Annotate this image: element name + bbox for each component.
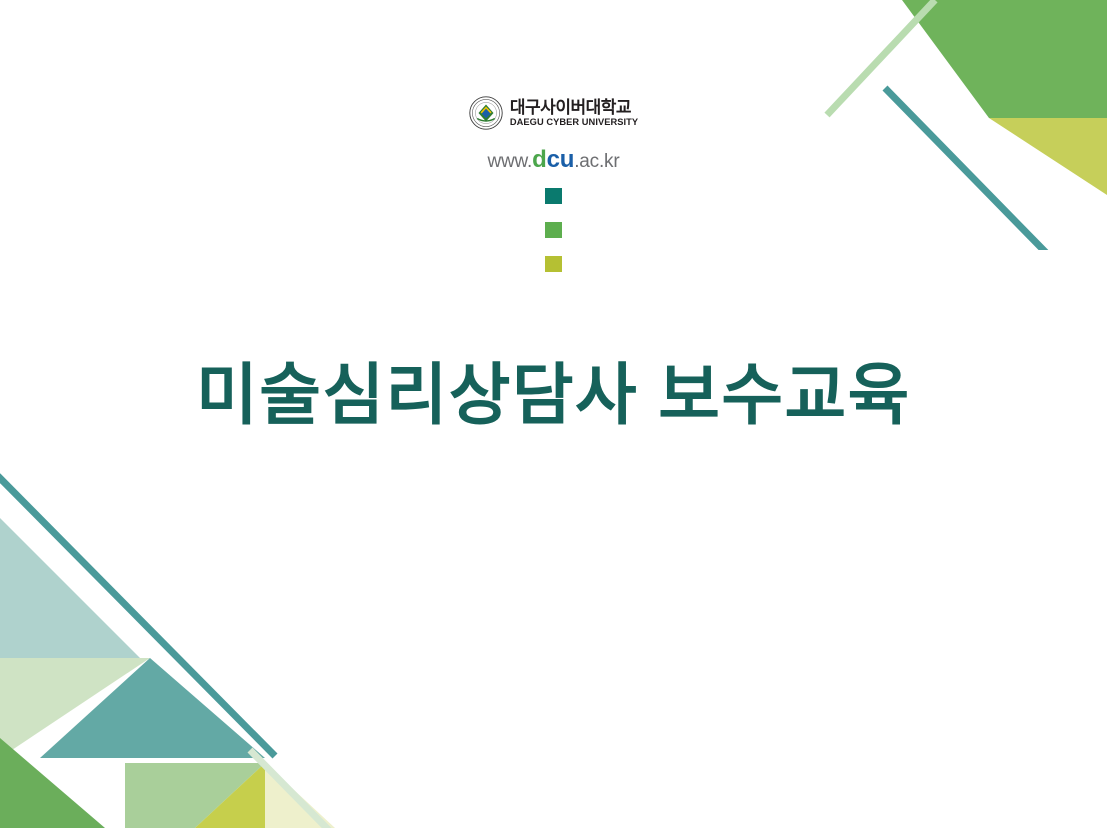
deco-lime-triangle-bl [195,763,265,828]
url-suffix: .ac.kr [574,151,619,172]
university-name-en: DAEGU CYBER UNIVERSITY [510,118,638,127]
deco-pale-green-triangle [0,658,150,758]
deco-light-green-line-bl [250,750,420,828]
university-logo-block: 대구사이버대학교 DAEGU CYBER UNIVERSITY www.dcu.… [0,96,1107,174]
page-title: 미술심리상담사 보수교육 [0,357,1107,434]
url-brand-cu: cu [547,146,575,173]
deco-teal-triangle [40,658,265,758]
deco-teal-line-bl [0,468,275,756]
deco-sage-triangle [125,763,265,828]
url-prefix: www. [488,151,533,172]
university-seal-icon [469,96,503,130]
wordmark: 대구사이버대학교 DAEGU CYBER UNIVERSITY [510,99,638,127]
website-url[interactable]: www.dcu.ac.kr [488,146,620,174]
deco-pale-yellow-triangle [265,763,335,828]
title-slide: 대구사이버대학교 DAEGU CYBER UNIVERSITY www.dcu.… [0,0,1107,828]
accent-square-group [0,188,1107,272]
url-brand-d: d [532,146,546,173]
deco-green-triangle-bl [0,738,105,828]
accent-square-lime [545,256,562,272]
bottom-left-decoration [0,468,420,828]
deco-light-teal-triangle [0,518,140,658]
accent-square-teal [545,188,562,204]
logo-row: 대구사이버대학교 DAEGU CYBER UNIVERSITY [469,96,638,130]
accent-square-green [545,222,562,238]
university-name-ko: 대구사이버대학교 [510,99,638,116]
